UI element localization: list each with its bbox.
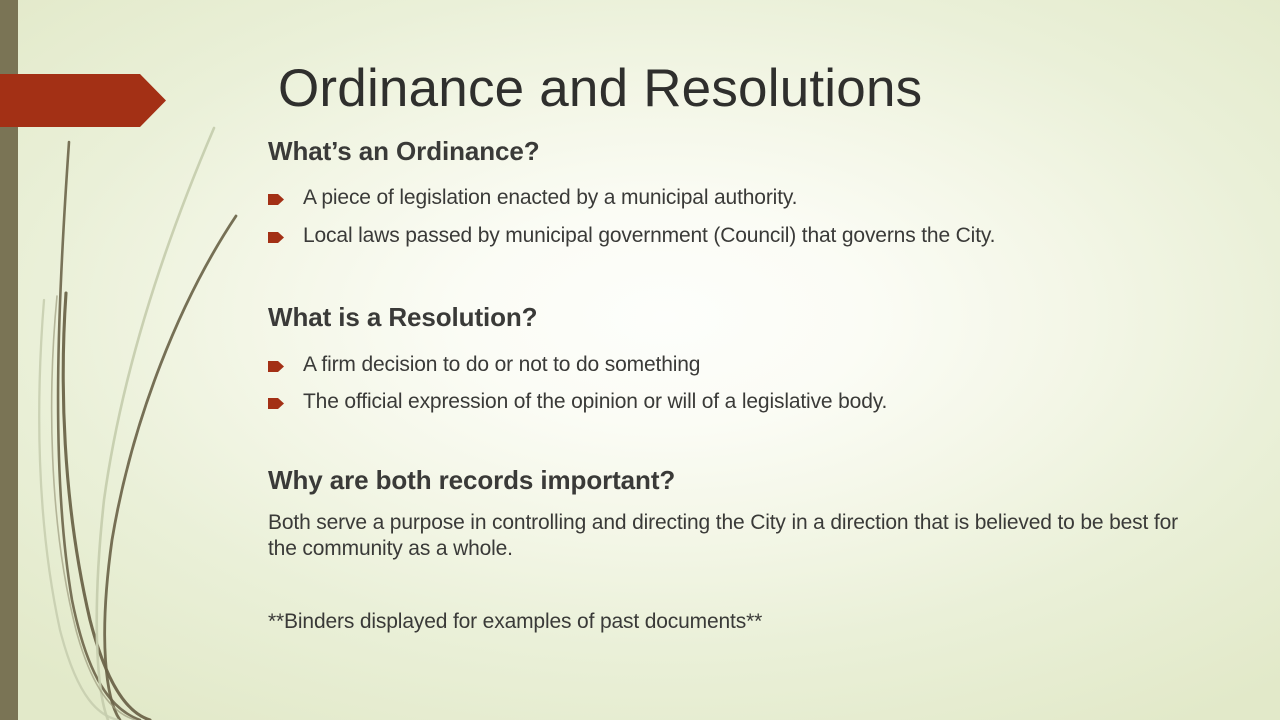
list-item: Local laws passed by municipal governmen… xyxy=(268,223,1198,249)
section-heading-resolution: What is a Resolution? xyxy=(268,302,1198,333)
arrow-bullet-icon xyxy=(268,232,284,243)
bullet-text: The official expression of the opinion o… xyxy=(303,389,887,415)
section-resolution: What is a Resolution? A firm decision to… xyxy=(268,302,1198,414)
bullet-text: Local laws passed by municipal governmen… xyxy=(303,223,995,249)
importance-paragraph: Both serve a purpose in controlling and … xyxy=(268,510,1198,563)
list-item: A firm decision to do or not to do somet… xyxy=(268,352,1198,378)
arrow-bullet-icon xyxy=(268,398,284,409)
slide-body: What’s an Ordinance? A piece of legislat… xyxy=(268,136,1198,635)
section-heading-ordinance: What’s an Ordinance? xyxy=(268,136,1198,167)
bullet-text: A firm decision to do or not to do somet… xyxy=(303,352,700,378)
bullet-text: A piece of legislation enacted by a muni… xyxy=(303,185,797,211)
slide-title: Ordinance and Resolutions xyxy=(278,58,922,119)
section-ordinance: What’s an Ordinance? A piece of legislat… xyxy=(268,136,1198,248)
list-item: The official expression of the opinion o… xyxy=(268,389,1198,415)
list-item: A piece of legislation enacted by a muni… xyxy=(268,185,1198,211)
red-arrow-banner xyxy=(0,74,166,127)
section-heading-importance: Why are both records important? xyxy=(268,465,1198,496)
bullet-list-resolution: A firm decision to do or not to do somet… xyxy=(268,352,1198,415)
bullet-list-ordinance: A piece of legislation enacted by a muni… xyxy=(268,185,1198,248)
section-importance: Why are both records important? Both ser… xyxy=(268,465,1198,563)
footnote-text: **Binders displayed for examples of past… xyxy=(268,609,1198,635)
arrow-bullet-icon xyxy=(268,194,284,205)
presentation-slide: Ordinance and Resolutions What’s an Ordi… xyxy=(0,0,1280,720)
arrow-bullet-icon xyxy=(268,361,284,372)
